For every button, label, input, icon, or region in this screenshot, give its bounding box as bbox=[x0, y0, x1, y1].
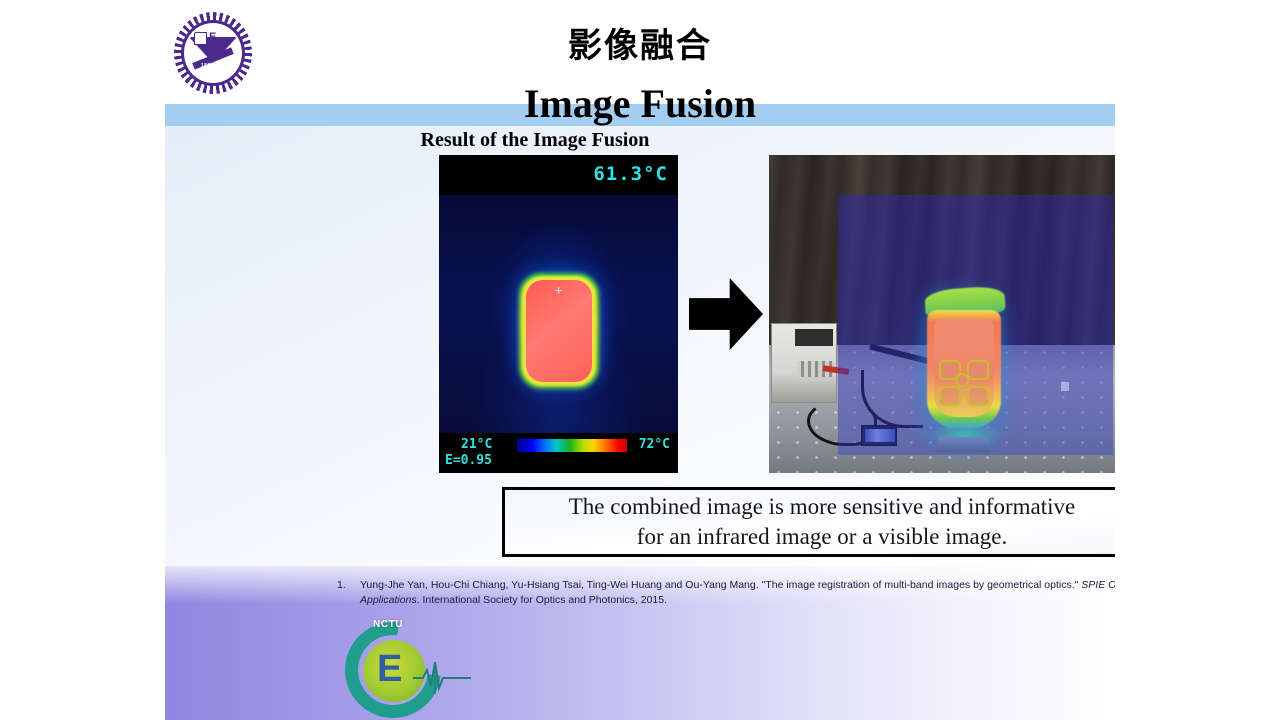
department-logo-letter: E bbox=[377, 650, 402, 688]
reference-publisher: . International Society for Optics and P… bbox=[417, 594, 667, 606]
presentation-slide: 影像融合 Image Fusion Result of the Image Fu… bbox=[0, 0, 1280, 720]
power-supply-display bbox=[795, 329, 833, 346]
infrared-thermal-image: 61.3°C + 21°C 72°C E=0.95 bbox=[439, 155, 678, 473]
reference-entry: Yung-Jhe Yan, Hou-Chi Chiang, Yu-Hsiang … bbox=[360, 578, 1115, 608]
department-logo-org: NCTU bbox=[373, 619, 403, 630]
reference-title: "The image registration of multi-band im… bbox=[762, 579, 1079, 591]
seal-letter: E bbox=[209, 31, 216, 43]
jar-cell bbox=[967, 360, 989, 380]
page-title-chinese: 影像融合 bbox=[165, 18, 1115, 67]
thermal-footer-bar: 21°C 72°C E=0.95 bbox=[439, 433, 678, 473]
slide-canvas: 影像融合 Image Fusion Result of the Image Fu… bbox=[165, 0, 1115, 720]
caption-line-2: for an infrared image or a visible image… bbox=[637, 522, 1007, 552]
page-title-english: Image Fusion bbox=[165, 80, 1115, 127]
jar-cell bbox=[939, 386, 961, 406]
department-logo: E NCTU bbox=[337, 618, 477, 720]
reference-number: 1. bbox=[337, 578, 351, 608]
reference-authors: Yung-Jhe Yan, Hou-Chi Chiang, Yu-Hsiang … bbox=[360, 579, 759, 591]
thermal-scale-min: 21°C bbox=[461, 437, 492, 452]
university-seal-icon: E 1896 bbox=[170, 8, 256, 98]
thermal-crosshair-icon: + bbox=[555, 285, 566, 296]
thermal-emissivity: E=0.95 bbox=[445, 453, 492, 468]
jar-stand bbox=[935, 437, 991, 453]
reference-list: 1. Yung-Jhe Yan, Hou-Chi Chiang, Yu-Hsia… bbox=[337, 578, 1115, 608]
thermal-field: + bbox=[439, 195, 678, 433]
jar-cell bbox=[967, 386, 989, 406]
seal-book-icon bbox=[194, 32, 207, 45]
thermal-scale-max: 72°C bbox=[639, 437, 670, 452]
table-marker bbox=[1061, 382, 1069, 391]
caption-line-1: The combined image is more sensitive and… bbox=[569, 492, 1076, 522]
seal-emblem: E 1896 bbox=[186, 25, 240, 81]
seal-founding-year: 1896 bbox=[201, 63, 214, 69]
thermal-spot-temperature: 61.3°C bbox=[593, 163, 668, 185]
section-subtitle: Result of the Image Fusion bbox=[165, 129, 905, 152]
jar-cell-center bbox=[955, 373, 969, 387]
thermal-color-scale bbox=[517, 439, 627, 452]
ecg-waveform-icon bbox=[413, 658, 471, 694]
caption-box: The combined image is more sensitive and… bbox=[502, 487, 1115, 557]
fused-visible-infrared-image bbox=[769, 155, 1115, 473]
